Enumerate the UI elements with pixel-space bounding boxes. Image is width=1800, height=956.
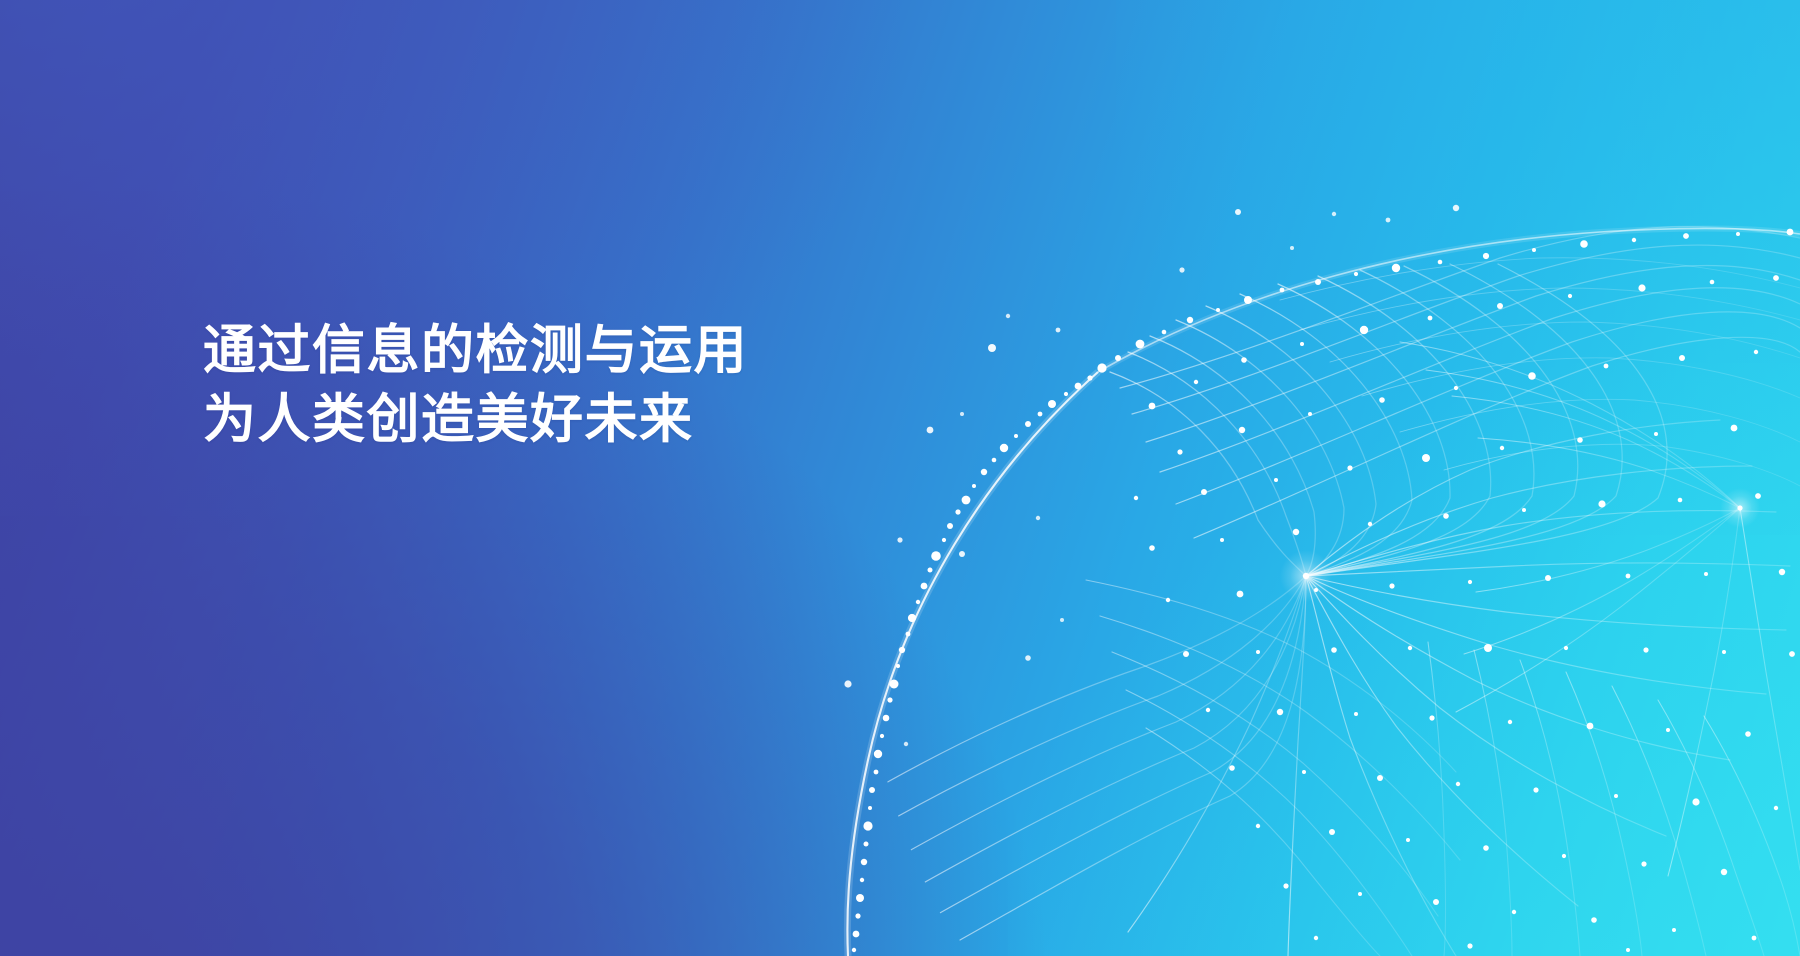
background-glow-bottom-right [1008,363,1800,956]
hero-headline: 通过信息的检测与运用 为人类创造美好未来 [203,316,748,454]
hero-banner: 通过信息的检测与运用 为人类创造美好未来 [0,0,1800,956]
headline-line-1: 通过信息的检测与运用 [203,316,748,385]
headline-line-2: 为人类创造美好未来 [203,385,748,454]
background-glow-bottom-left [0,191,1044,956]
